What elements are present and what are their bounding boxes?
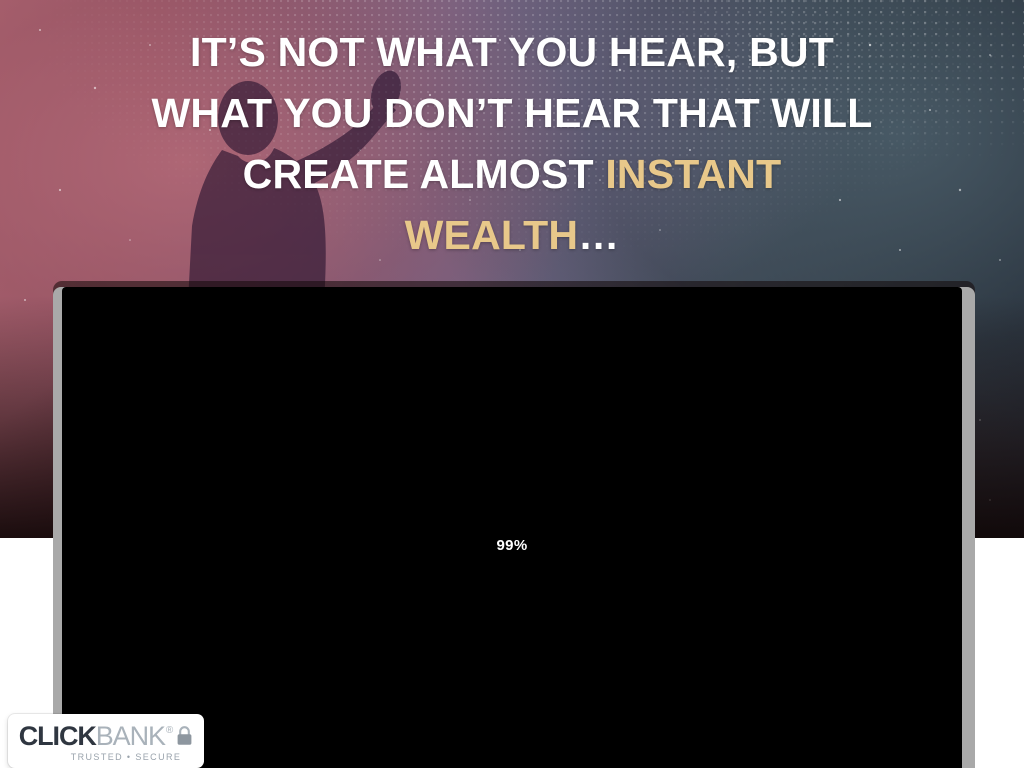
video-player[interactable]: 99%	[62, 287, 962, 768]
clickbank-trust-badge[interactable]: CLICK BANK ® TRUSTED • SECURE	[8, 714, 204, 768]
headline-line-3-white: CREATE ALMOST	[243, 151, 606, 197]
video-loading-percent: 99%	[62, 287, 962, 768]
headline-line-3-accent: INSTANT	[605, 151, 781, 197]
registered-mark: ®	[166, 726, 173, 736]
clickbank-wordmark: CLICK BANK ®	[19, 723, 194, 750]
clickbank-brand-light: BANK	[96, 723, 165, 750]
page-title: IT’S NOT WHAT YOU HEAR, BUT WHAT YOU DON…	[0, 22, 1024, 266]
headline-line-4: WEALTH…	[0, 205, 1024, 266]
headline-line-4-accent: WEALTH	[405, 212, 579, 258]
headline-line-1: IT’S NOT WHAT YOU HEAR, BUT	[0, 22, 1024, 83]
headline-ellipsis: …	[578, 212, 619, 258]
clickbank-tagline: TRUSTED • SECURE	[71, 752, 182, 762]
page-root: IT’S NOT WHAT YOU HEAR, BUT WHAT YOU DON…	[0, 0, 1024, 768]
headline-line-2: WHAT YOU DON’T HEAR THAT WILL	[0, 83, 1024, 144]
lock-icon	[176, 726, 193, 746]
clickbank-brand-bold: CLICK	[19, 723, 96, 750]
headline-line-3: CREATE ALMOST INSTANT	[0, 144, 1024, 205]
